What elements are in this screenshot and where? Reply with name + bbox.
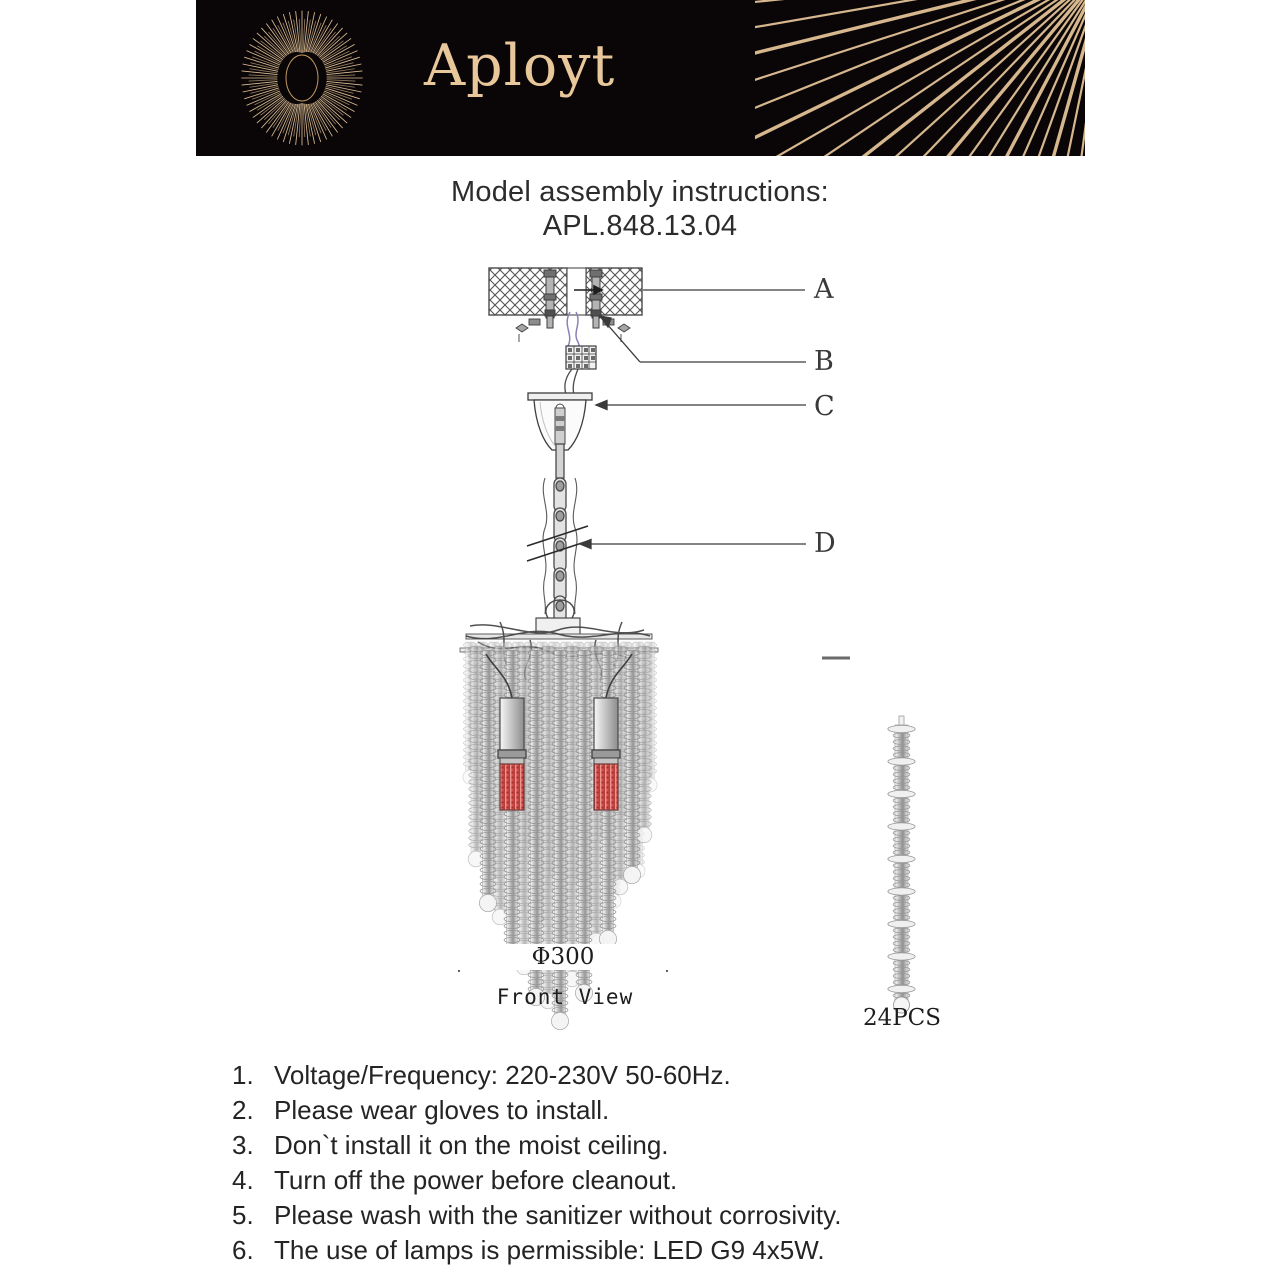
note-item: 2. Please wear gloves to install. xyxy=(232,1093,1132,1128)
sunburst-logo-icon xyxy=(232,8,372,148)
callout-leader-lines xyxy=(580,290,806,549)
note-number: 5. xyxy=(232,1198,274,1233)
note-item: 4. Turn off the power before cleanout. xyxy=(232,1163,1132,1198)
assembly-diagram xyxy=(0,250,1280,1040)
callout-label-c: C xyxy=(814,391,835,422)
lamp-holder-right xyxy=(592,698,620,810)
brand-banner: Aployt xyxy=(196,0,1085,156)
note-item: 3. Don`t install it on the moist ceiling… xyxy=(232,1128,1132,1163)
page-title: Model assembly instructions: xyxy=(0,176,1280,209)
model-number: APL.848.13.04 xyxy=(0,210,1280,243)
note-number: 6. xyxy=(232,1233,274,1268)
note-text: Please wash with the sanitizer without c… xyxy=(274,1198,1132,1233)
note-text: Voltage/Frequency: 220-230V 50-60Hz. xyxy=(274,1058,1132,1093)
terminal-block xyxy=(566,346,596,369)
callout-label-d: D xyxy=(814,528,836,559)
front-view-caption: Front View xyxy=(440,985,690,1009)
note-item: 1. Voltage/Frequency: 220-230V 50-60Hz. xyxy=(232,1058,1132,1093)
diameter-dimension-label: Φ300 xyxy=(452,944,674,970)
note-text: Don`t install it on the moist ceiling. xyxy=(274,1128,1132,1163)
note-text: The use of lamps is permissible: LED G9 … xyxy=(274,1233,1132,1268)
lamp-holder-left xyxy=(498,698,526,810)
note-number: 1. xyxy=(232,1058,274,1093)
part-quantity-label: 24PCS xyxy=(832,1005,972,1031)
canopy-cup xyxy=(528,393,592,450)
corner-rays-decoration-icon xyxy=(755,0,1085,156)
note-item: 6. The use of lamps is permissible: LED … xyxy=(232,1233,1132,1268)
note-item: 5. Please wash with the sanitizer withou… xyxy=(232,1198,1132,1233)
crystal-rod-part xyxy=(888,716,915,1013)
ceiling-slab xyxy=(489,268,642,315)
note-text: Please wear gloves to install. xyxy=(274,1093,1132,1128)
brand-wordmark: Aployt xyxy=(424,33,615,99)
note-text: Turn off the power before cleanout. xyxy=(274,1163,1132,1198)
callout-label-a: A xyxy=(814,274,834,305)
note-number: 3. xyxy=(232,1128,274,1163)
note-number: 4. xyxy=(232,1163,274,1198)
note-number: 2. xyxy=(232,1093,274,1128)
callout-label-b: B xyxy=(814,346,834,377)
notes-list: 1. Voltage/Frequency: 220-230V 50-60Hz. … xyxy=(232,1058,1132,1268)
